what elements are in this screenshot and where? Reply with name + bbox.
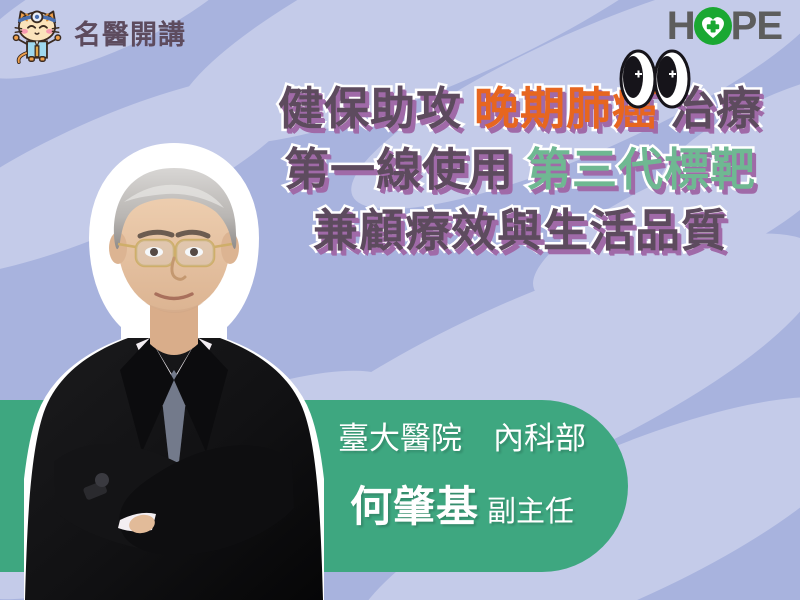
brand-label: 名醫開講 <box>74 22 186 49</box>
headline-seg: 兼顧療效與生活品質 <box>313 200 727 261</box>
headline-block: 健保助攻晚期肺癌治療 第一線使用第三代標靶 兼顧療效與生活品質 <box>250 78 790 262</box>
hope-logo: H PE <box>667 6 782 46</box>
speaker-name: 何肇基 <box>350 483 479 530</box>
speaker-info: 臺大醫院 內科部 何肇基副主任 <box>292 420 632 534</box>
speaker-name-row: 何肇基副主任 <box>292 473 632 534</box>
hope-heart-cross-icon <box>693 6 733 46</box>
doctor-cat-mascot-icon <box>8 6 66 64</box>
headline-line-2: 第一線使用第三代標靶 <box>250 139 790 200</box>
headline-seg: 第一線使用 <box>284 139 514 200</box>
headline-seg-highlight: 第三代標靶 <box>526 139 756 200</box>
headline-seg: 健保助攻 <box>278 78 462 139</box>
cartoon-eyes-icon <box>618 48 692 110</box>
poster-canvas: 名醫開講 H PE 健保助攻晚期肺癌治療 第一線使用第三代標靶 兼顧療效與生活品… <box>0 0 800 600</box>
headline-line-1: 健保助攻晚期肺癌治療 <box>250 78 790 139</box>
speaker-affiliation: 臺大醫院 內科部 <box>292 420 632 459</box>
speaker-title: 副主任 <box>487 496 574 528</box>
brand-lockup: 名醫開講 <box>8 6 186 64</box>
hope-logo-letter-h: H <box>667 6 695 46</box>
headline-line-3: 兼顧療效與生活品質 <box>250 200 790 261</box>
hope-logo-letters-pe: PE <box>731 6 782 46</box>
